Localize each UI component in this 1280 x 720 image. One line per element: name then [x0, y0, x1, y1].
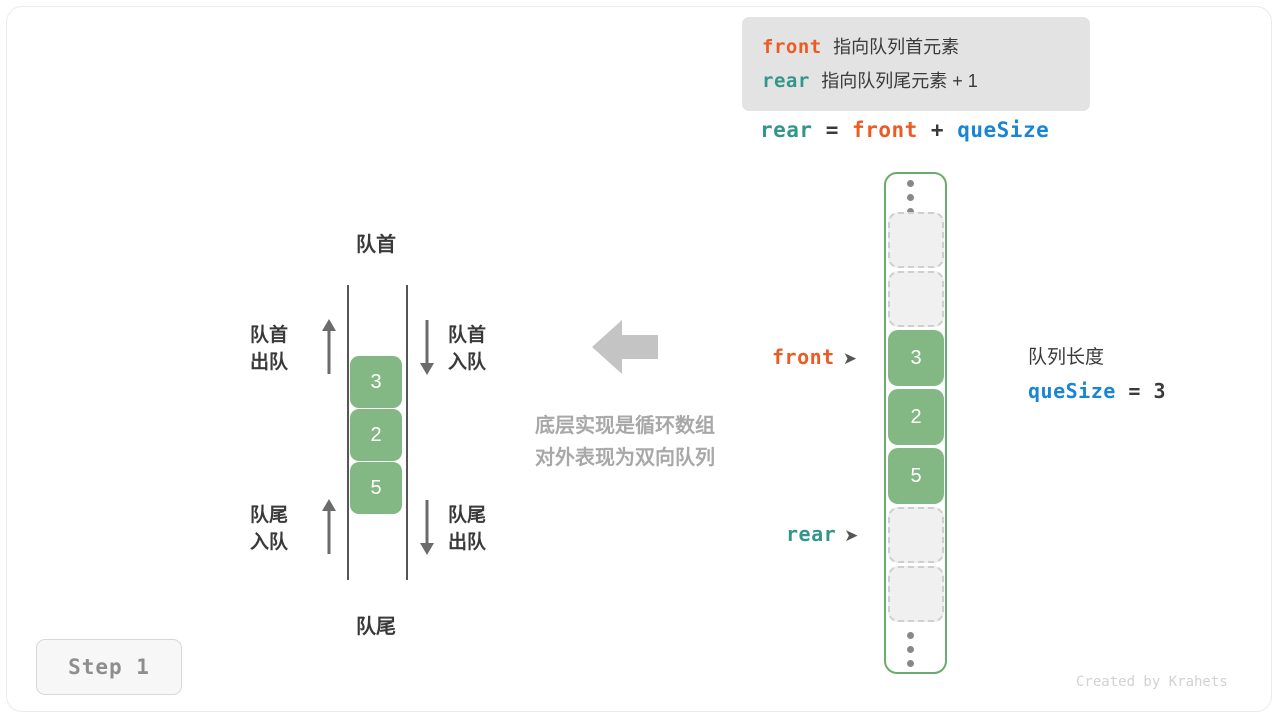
pointer-arrow-icon: ➤: [844, 526, 859, 546]
deque-cell: 5: [350, 462, 402, 514]
queue-length-title: 队列长度: [1028, 342, 1104, 369]
ellipsis-bottom-icon: [907, 632, 915, 674]
formula-quesize: queSize: [957, 118, 1049, 142]
legend-rear-text: 指向队列尾元素 + 1: [821, 71, 978, 91]
legend-front-symbol: front: [762, 36, 822, 58]
deque-cell: 2: [350, 409, 402, 461]
formula-equals: =: [826, 118, 839, 142]
array-cell: [888, 212, 944, 268]
label-tail-enqueue-line1: 队尾: [250, 502, 308, 529]
quesize-equals: =: [1128, 379, 1141, 403]
label-tail-enqueue-line2: 入队: [250, 529, 308, 556]
label-head-enqueue-line1: 队首: [448, 322, 486, 349]
legend-front-text: 指向队列首元素: [833, 37, 959, 57]
deque-head-label: 队首: [330, 228, 422, 257]
formula-plus: +: [931, 118, 944, 142]
array-cell: [888, 271, 944, 327]
label-head-dequeue: 队首 出队: [250, 322, 308, 376]
label-tail-dequeue-line2: 出队: [448, 529, 486, 556]
label-head-enqueue: 队首 入队: [448, 322, 486, 376]
legend-rear-symbol: rear: [762, 70, 810, 92]
center-note-line2: 对外表现为双向队列: [490, 442, 760, 474]
label-head-enqueue-line2: 入队: [448, 349, 486, 376]
formula-front: front: [852, 118, 918, 142]
quesize-number: 3: [1153, 379, 1166, 403]
deque-rail-left: [347, 285, 349, 580]
step-badge: Step 1: [36, 639, 182, 695]
array-cell: 3: [888, 330, 944, 386]
pointer-legend-box: front 指向队列首元素 rear 指向队列尾元素 + 1: [742, 17, 1090, 111]
legend-line-rear: rear 指向队列尾元素 + 1: [762, 64, 1090, 98]
pointer-rear-text: rear: [786, 522, 836, 546]
array-cell: 5: [888, 448, 944, 504]
center-note: 底层实现是循环数组 对外表现为双向队列: [490, 410, 760, 474]
label-tail-dequeue-line1: 队尾: [448, 502, 486, 529]
center-note-line1: 底层实现是循环数组: [490, 410, 760, 442]
array-cell: [888, 566, 944, 622]
deque-cell: 3: [350, 356, 402, 408]
legend-line-front: front 指向队列首元素: [762, 30, 1090, 64]
pointer-arrow-icon: ➤: [843, 349, 858, 369]
pointer-front: front➤: [772, 345, 857, 369]
array-cell: 2: [888, 389, 944, 445]
deque-tail-label: 队尾: [330, 610, 422, 639]
label-head-dequeue-line1: 队首: [250, 322, 308, 349]
label-tail-dequeue: 队尾 出队: [448, 502, 486, 556]
formula-rear: rear: [760, 118, 813, 142]
label-head-dequeue-line2: 出队: [250, 349, 308, 376]
array-cell: [888, 507, 944, 563]
arrow-up-icon: [318, 318, 340, 376]
formula-rear-equals-front-plus-quesize: rear = front + queSize: [760, 118, 1049, 142]
pointer-rear: rear➤: [786, 522, 859, 546]
deque-rail-right: [406, 285, 408, 580]
queue-length-value: queSize = 3: [1028, 379, 1166, 403]
watermark: Created by Krahets: [1076, 674, 1228, 690]
quesize-var: queSize: [1028, 379, 1116, 403]
arrow-down-icon: [416, 498, 438, 556]
diagram-canvas: front 指向队列首元素 rear 指向队列尾元素 + 1 rear = fr…: [0, 0, 1280, 720]
arrow-left-big-icon: [592, 318, 658, 376]
pointer-front-text: front: [772, 345, 835, 369]
label-tail-enqueue: 队尾 入队: [250, 502, 308, 556]
arrow-down-icon: [416, 318, 438, 376]
arrow-up-icon: [318, 498, 340, 556]
